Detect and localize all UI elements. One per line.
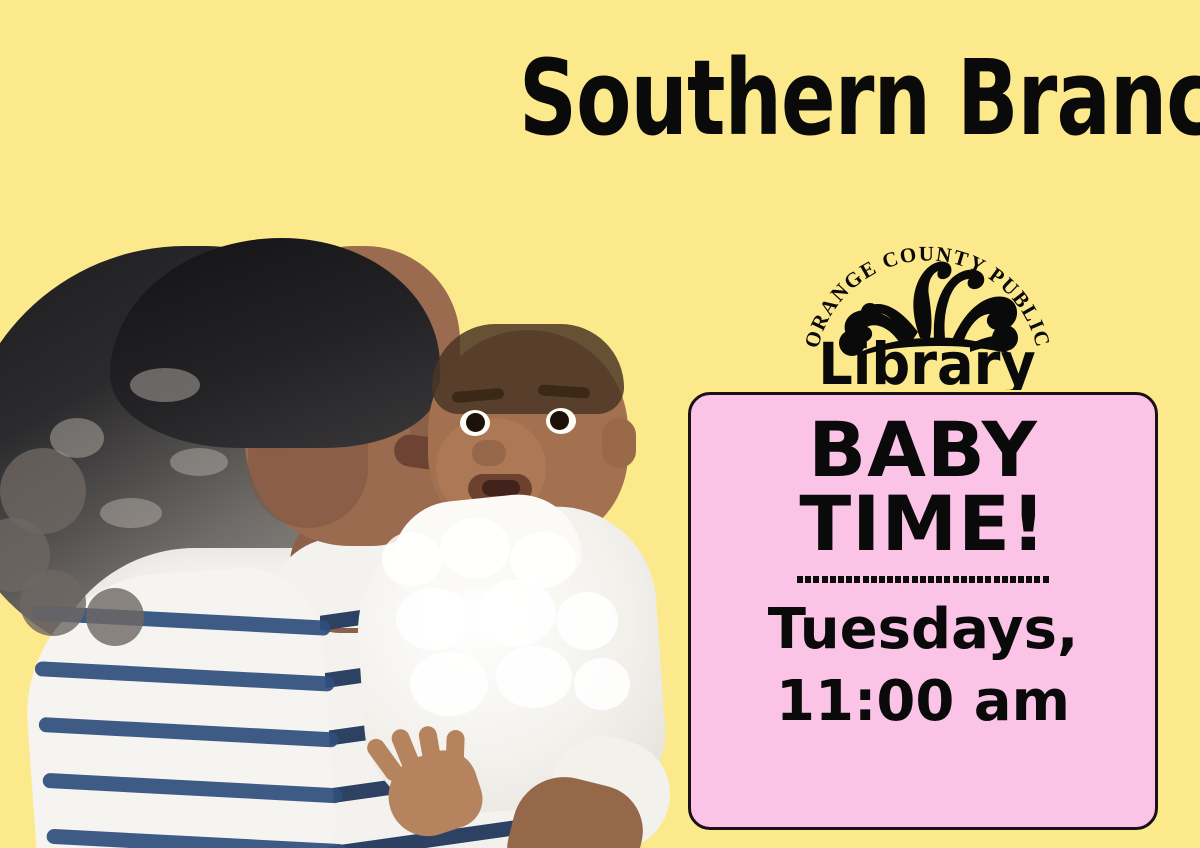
divider-dot bbox=[854, 576, 860, 583]
divider-dot bbox=[1034, 576, 1040, 583]
divider-dot bbox=[805, 576, 811, 583]
logo-wordmark: Library bbox=[818, 330, 1036, 390]
poster-canvas: Southern Branch ORANGE COUNTY PUBLIC bbox=[0, 0, 1200, 848]
divider-dot bbox=[903, 576, 909, 583]
divider-dot bbox=[944, 576, 950, 583]
divider-dot bbox=[1002, 576, 1008, 583]
divider-dot bbox=[985, 576, 991, 583]
baby-pupil-left bbox=[466, 413, 485, 432]
divider-dot bbox=[895, 576, 901, 583]
divider-dot bbox=[871, 576, 877, 583]
dotted-divider bbox=[797, 574, 1049, 584]
divider-dot bbox=[846, 576, 852, 583]
divider-dot bbox=[1043, 576, 1049, 583]
divider-dot bbox=[912, 576, 918, 583]
baby-ear-shape bbox=[602, 418, 636, 468]
divider-dot bbox=[977, 576, 983, 583]
divider-dot bbox=[953, 576, 959, 583]
card-subtitle-line1: Tuesdays, bbox=[768, 594, 1079, 666]
divider-dot bbox=[879, 576, 885, 583]
divider-dot bbox=[994, 576, 1000, 583]
divider-dot bbox=[936, 576, 942, 583]
divider-dot bbox=[1026, 576, 1032, 583]
divider-dot bbox=[822, 576, 828, 583]
library-logo: ORANGE COUNTY PUBLIC bbox=[800, 212, 1055, 390]
divider-dot bbox=[920, 576, 926, 583]
card-subtitle-line2: 11:00 am bbox=[776, 666, 1070, 738]
event-info-card: BABY TIME! Tuesdays, 11:00 am bbox=[688, 392, 1158, 830]
photo-mother-and-baby bbox=[0, 118, 690, 848]
divider-dot bbox=[797, 576, 803, 583]
baby-nose-shape bbox=[472, 440, 506, 466]
page-title: Southern Branch bbox=[519, 46, 1121, 150]
divider-dot bbox=[961, 576, 967, 583]
divider-dot bbox=[969, 576, 975, 583]
baby-mouth-inner bbox=[482, 480, 520, 496]
divider-dot bbox=[1018, 576, 1024, 583]
card-title-line1: BABY bbox=[808, 413, 1038, 487]
divider-dot bbox=[838, 576, 844, 583]
divider-dot bbox=[887, 576, 893, 583]
baby-pupil-right bbox=[550, 411, 569, 430]
divider-dot bbox=[813, 576, 819, 583]
divider-dot bbox=[928, 576, 934, 583]
divider-dot bbox=[1010, 576, 1016, 583]
divider-dot bbox=[863, 576, 869, 583]
divider-dot bbox=[830, 576, 836, 583]
card-title-line2: TIME! bbox=[799, 487, 1046, 561]
